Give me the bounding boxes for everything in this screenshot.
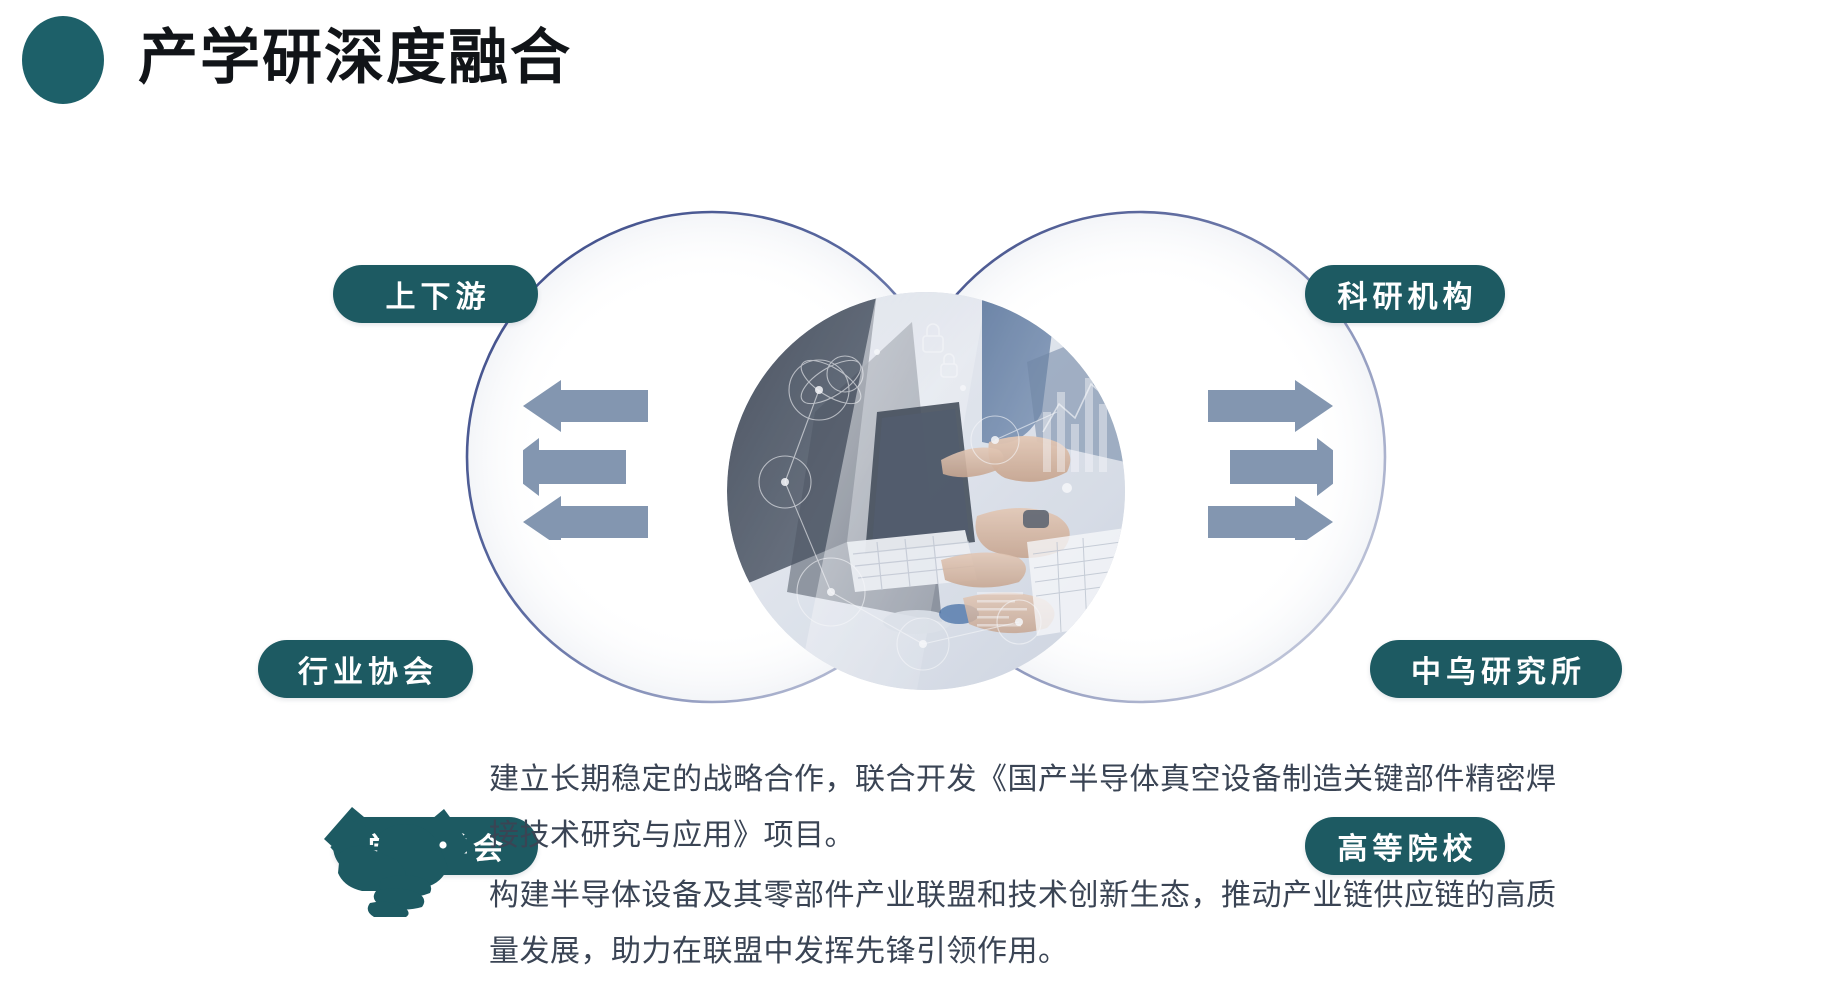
description-paragraph-1: 建立长期稳定的战略合作，联合开发《国产半导体真空设备制造关键部件精密焊接技术研究… bbox=[489, 752, 1579, 864]
label-pill-industry-association[interactable]: 行业协会 bbox=[258, 640, 473, 698]
circle-bullet-icon bbox=[22, 16, 104, 104]
venn-diagram: 上下游 行业协会 学科学会 科研机构 中乌研究所 高等院校 bbox=[0, 190, 1827, 735]
photo-hands-laptop-technology-icon bbox=[727, 292, 1125, 690]
bottom-description-block: 建立长期稳定的战略合作，联合开发《国产半导体真空设备制造关键部件精密焊接技术研究… bbox=[0, 752, 1827, 992]
label-pill-text: 行业协会 bbox=[298, 647, 438, 691]
description-paragraph-2: 构建半导体设备及其零部件产业联盟和技术创新生态，推动产业链供应链的高质量发展，助… bbox=[489, 868, 1579, 980]
description-paragraphs: 建立长期稳定的战略合作，联合开发《国产半导体真空设备制造关键部件精密焊接技术研究… bbox=[489, 752, 1579, 980]
page-title-row: 产学研深度融合 bbox=[0, 0, 900, 120]
handshake-icon bbox=[318, 787, 478, 917]
center-photo bbox=[727, 292, 1125, 690]
label-pill-text: 科研机构 bbox=[1338, 272, 1478, 316]
arrow-right-icon bbox=[1208, 380, 1333, 540]
label-pill-china-ukraine-institute[interactable]: 中乌研究所 bbox=[1370, 640, 1622, 698]
label-pill-research-institute[interactable]: 科研机构 bbox=[1305, 265, 1505, 323]
handshake-glyph bbox=[318, 787, 478, 917]
label-pill-text: 上下游 bbox=[386, 272, 491, 316]
arrows-right-group bbox=[1208, 380, 1333, 540]
arrow-left-icon bbox=[523, 380, 648, 540]
label-pill-upstream-downstream[interactable]: 上下游 bbox=[333, 265, 538, 323]
page-title: 产学研深度融合 bbox=[138, 14, 572, 102]
arrows-left-group bbox=[523, 380, 648, 540]
label-pill-text: 中乌研究所 bbox=[1411, 647, 1586, 691]
